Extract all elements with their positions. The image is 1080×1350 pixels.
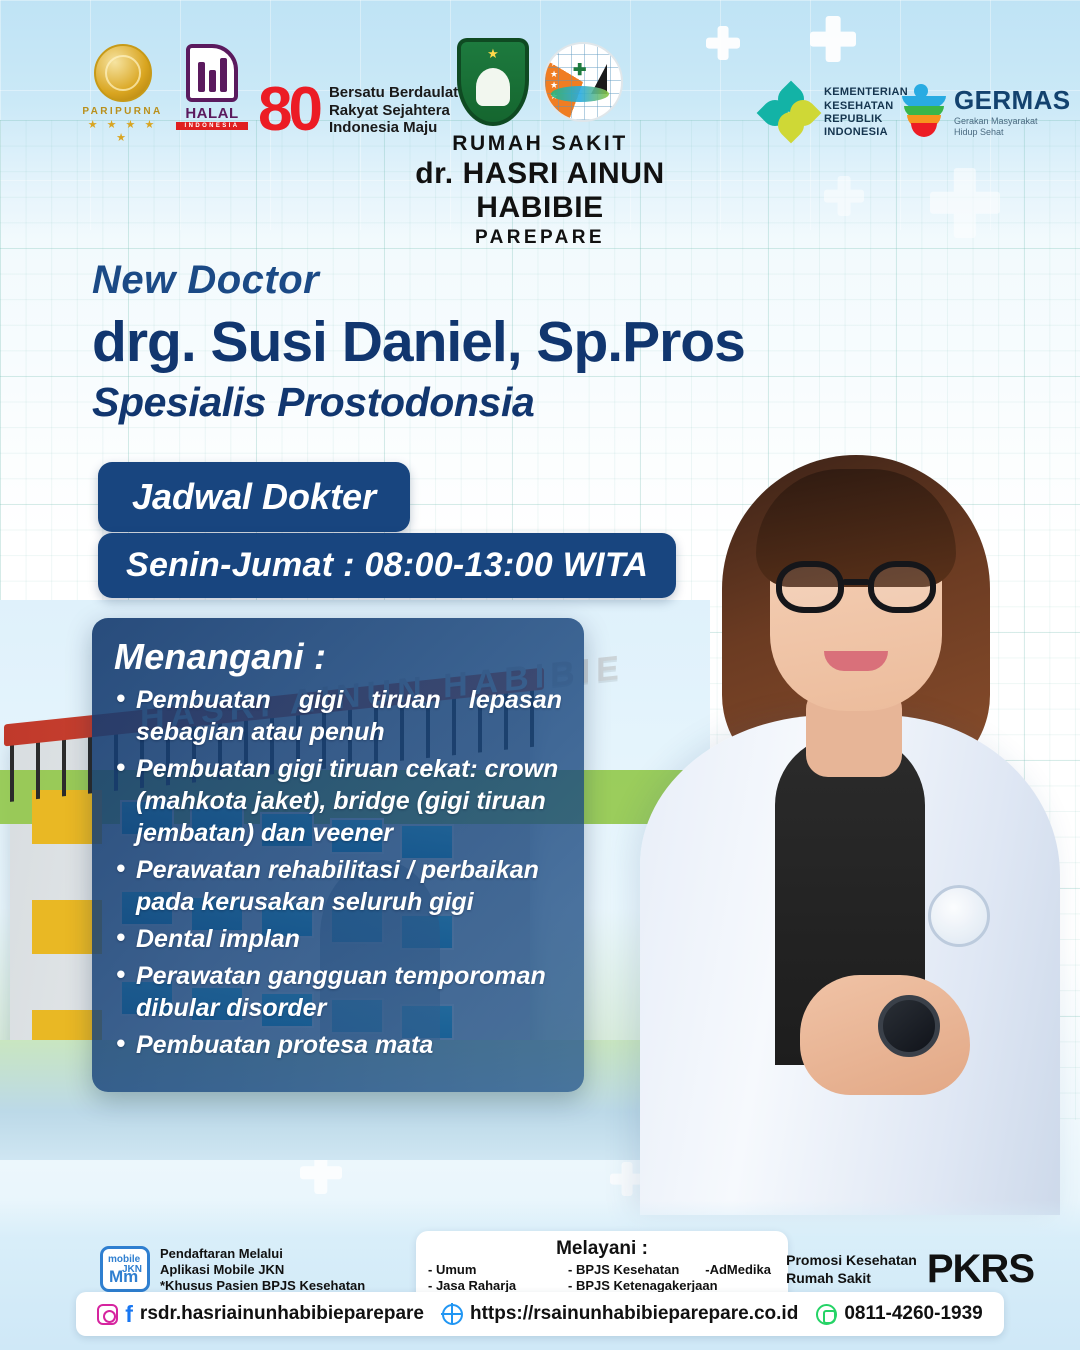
jkn-icon-text-3: Mm [109,1267,138,1287]
eyeglasses-icon [776,561,936,613]
social-handle: rsdr.hasriainunhabibieparepare [140,1303,424,1325]
germas-logo: GERMAS Gerakan Masyarakat Hidup Sehat [900,82,1071,140]
instagram-icon[interactable] [97,1304,118,1325]
melayani-right-text-0: - BPJS Kesehatan [568,1262,679,1277]
hospital-name-line-1: RUMAH SAKIT [375,132,705,156]
facebook-icon[interactable]: f [125,1303,133,1326]
halal-mark-icon [186,44,238,102]
ministry-label: KEMENTERIAN KESEHATAN REPUBLIK INDONESIA [824,86,908,140]
pkrs-line-2: Rumah Sakit [786,1270,917,1288]
services-title: Menangani : [114,636,562,678]
doctor-name: drg. Susi Daniel, Sp.Pros [92,309,745,375]
registration-line-1: Pendaftaran Melalui [160,1246,365,1262]
halal-sub-label: INDONESIA [176,122,248,130]
website-url: https://rsainunhabibieparepare.co.id [470,1303,798,1325]
halal-logo: HALAL INDONESIA [176,44,248,130]
melayani-left-1: - Jasa Raharja [428,1278,568,1293]
ministry-line-4: INDONESIA [824,126,908,139]
pkrs-line-1: Promosi Kesehatan [786,1252,917,1270]
service-item: Pembuatan gigi tiruan lepasan sebagian a… [114,684,562,748]
hospital-globe-icon: ★★★★ ✚ [543,42,623,122]
service-item: Perawatan rehabilitasi / perbaikan pada … [114,854,562,918]
footer: mobile JKN Mm Pendaftaran Melalui Aplika… [0,1200,1080,1350]
anniversary-number: 80 [258,84,319,137]
whatsapp-icon[interactable] [816,1304,837,1325]
ministry-of-health-logo: KEMENTERIAN KESEHATAN REPUBLIK INDONESIA [762,86,908,140]
ministry-line-3: REPUBLIK [824,113,908,126]
registration-line-2: Aplikasi Mobile JKN [160,1262,365,1278]
ministry-line-1: KEMENTERIAN [824,86,908,99]
registration-block: mobile JKN Mm Pendaftaran Melalui Aplika… [100,1246,365,1294]
regency-crest-icon: ★ [457,38,529,126]
hospital-name-line-3: PAREPARE [375,227,705,249]
website-contact[interactable]: https://rsainunhabibieparepare.co.id [442,1303,798,1325]
germas-figure-icon [900,82,948,140]
contact-bar: f rsdr.hasriainunhabibieparepare https:/… [76,1292,1004,1336]
halal-label: HALAL [176,105,248,122]
doctor-portrait [610,415,1080,1205]
headline-kicker: New Doctor [92,258,745,303]
melayani-extra-0: -AdMedika [705,1262,771,1277]
service-item: Dental implan [114,923,562,955]
pkrs-acronym: PKRS [927,1247,1034,1292]
registration-lines: Pendaftaran Melalui Aplikasi Mobile JKN … [160,1246,365,1294]
headline-block: New Doctor drg. Susi Daniel, Sp.Pros Spe… [92,258,745,426]
service-item: Pembuatan gigi tiruan cekat: crown (mahk… [114,753,562,849]
poster-root: HASRI AINUN HABIBIE PARIPURNA ★ ★ ★ ★ ★ [0,0,1080,1350]
kemenkes-petal-icon [762,86,816,140]
pkrs-lines: Promosi Kesehatan Rumah Sakit [786,1252,917,1287]
logo-row: PARIPURNA ★ ★ ★ ★ ★ HALAL INDONESIA 80 B… [0,38,1080,158]
services-panel: Menangani : Pembuatan gigi tiruan lepasa… [92,618,584,1092]
doctor-specialty: Spesialis Prostodonsia [92,379,745,426]
germas-sub-line-2: Hidup Sehat [954,127,1071,138]
germas-wordmark: GERMAS [954,85,1071,116]
paripurna-label: PARIPURNA [80,106,165,117]
globe-icon[interactable] [442,1304,463,1325]
germas-sub-line-1: Gerakan Masyarakat [954,116,1071,127]
paripurna-accreditation-logo: PARIPURNA ★ ★ ★ ★ ★ [80,44,165,144]
services-list: Pembuatan gigi tiruan lepasan sebagian a… [114,684,562,1061]
paripurna-coin-icon [94,44,152,102]
service-item: Perawatan gangguan temporoman dibular di… [114,960,562,1024]
hospital-name-line-2: dr. HASRI AINUN HABIBIE [375,157,705,225]
wristwatch [878,995,940,1057]
social-contact[interactable]: f rsdr.hasriainunhabibieparepare [97,1303,424,1326]
hospital-logo-block: ★ ★★★★ ✚ RUMAH SAKIT dr. HASRI AINUN HAB… [375,38,705,249]
paripurna-stars: ★ ★ ★ ★ ★ [80,118,165,144]
ministry-line-2: KESEHATAN [824,100,908,113]
melayani-left-0: - Umum [428,1262,568,1277]
whatsapp-contact[interactable]: 0811-4260-1939 [816,1303,982,1325]
coat-emblem [928,885,990,947]
schedule-hours-badge: Senin-Jumat : 08:00-13:00 WITA [98,533,676,598]
melayani-title: Melayani : [428,1238,776,1260]
schedule-badge: Jadwal Dokter [98,462,410,532]
mobile-jkn-icon: mobile JKN Mm [100,1246,150,1292]
whatsapp-number: 0811-4260-1939 [844,1303,982,1325]
service-item: Pembuatan protesa mata [114,1029,562,1061]
